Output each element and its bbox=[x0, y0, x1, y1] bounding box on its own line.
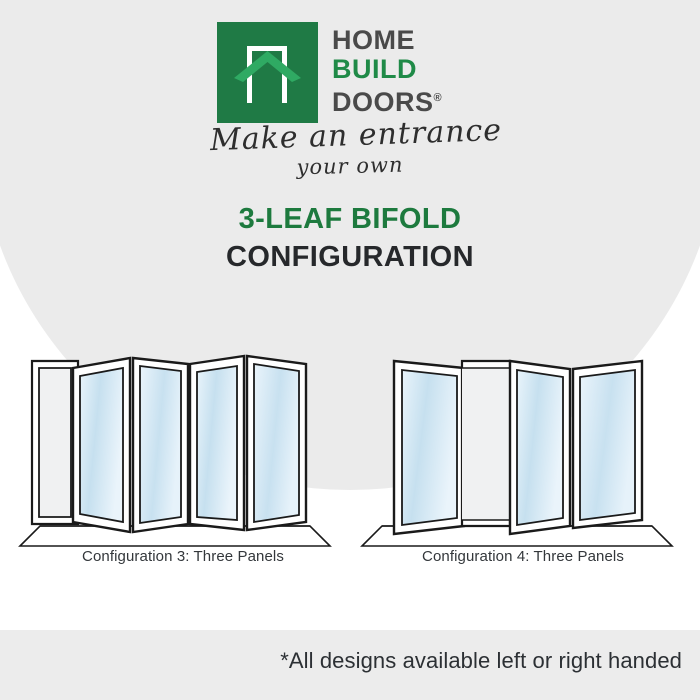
page-title: 3-LEAF BIFOLD CONFIGURATION bbox=[0, 200, 700, 276]
configuration-3-drawing bbox=[18, 350, 348, 550]
brand-name-line-3: DOORS bbox=[332, 87, 434, 117]
panel-fixed-left bbox=[32, 361, 78, 524]
panel-leaf-4 bbox=[247, 356, 306, 530]
house-door-logo-icon bbox=[217, 22, 318, 123]
floor-plane bbox=[20, 526, 330, 546]
page-title-line-1: 3-LEAF BIFOLD bbox=[0, 200, 700, 238]
diagram-configuration-3: Configuration 3: Three Panels bbox=[18, 350, 348, 590]
panel-leaf-2 bbox=[510, 361, 570, 534]
configuration-4-drawing bbox=[358, 350, 688, 550]
configuration-infographic: HOME BUILD DOORS® Make an entrance your … bbox=[0, 0, 700, 700]
footnote-text: *All designs available left or right han… bbox=[0, 648, 700, 674]
registered-trademark-icon: ® bbox=[434, 92, 443, 104]
panel-leaf-1 bbox=[73, 358, 130, 532]
panel-fixed-centre bbox=[462, 361, 510, 526]
panel-leaf-1 bbox=[394, 361, 464, 534]
diagram-caption-configuration-3: Configuration 3: Three Panels bbox=[18, 548, 348, 565]
configuration-diagrams: Configuration 3: Three Panels bbox=[0, 350, 700, 590]
page-title-line-2: CONFIGURATION bbox=[0, 238, 700, 276]
diagram-caption-configuration-4: Configuration 4: Three Panels bbox=[358, 548, 688, 565]
panel-leaf-2 bbox=[133, 358, 188, 532]
panel-leaf-3 bbox=[573, 361, 642, 528]
brand-wordmark: HOME BUILD DOORS® bbox=[332, 22, 442, 117]
brand-name-line-1: HOME bbox=[332, 26, 442, 55]
diagram-configuration-4: Configuration 4: Three Panels bbox=[358, 350, 688, 590]
brand-logo: HOME BUILD DOORS® bbox=[0, 22, 700, 142]
brand-name-line-3-wrap: DOORS® bbox=[332, 84, 442, 117]
panel-leaf-3 bbox=[190, 356, 244, 530]
brand-name-line-2: BUILD bbox=[332, 55, 442, 84]
logo-roof-chevron-icon bbox=[230, 48, 305, 82]
